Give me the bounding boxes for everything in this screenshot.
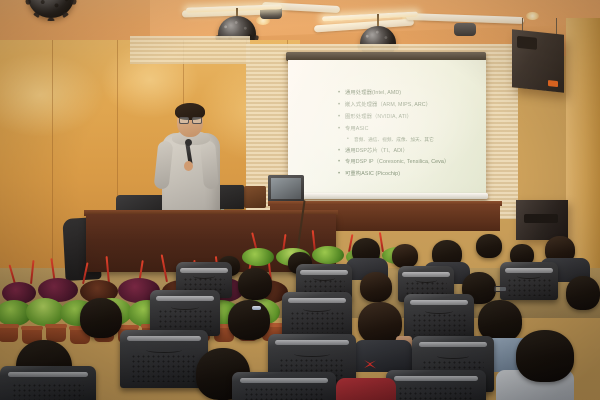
audience-head <box>238 268 272 300</box>
plant-foliage-green <box>242 248 274 266</box>
ceiling-fan <box>314 10 524 36</box>
wall-wood-right <box>566 18 600 270</box>
seat-rail <box>505 268 554 273</box>
seat-handle-slot <box>437 353 470 359</box>
slide-bullet: 图形处理器（NVIDIA, ATI） <box>338 115 480 121</box>
flower-spike <box>161 254 168 282</box>
seat-perforation <box>412 313 465 335</box>
auditorium-seat[interactable] <box>404 294 474 340</box>
audience-head <box>80 298 122 338</box>
pendant-ball <box>28 0 74 18</box>
plant-foliage-green <box>312 246 344 264</box>
pendant-ball-texture <box>25 0 77 21</box>
audience-head <box>516 330 574 382</box>
seat-perforation <box>290 311 343 333</box>
slide-bullet: 嵌入式处理器（ARM, MIPS, ARC） <box>338 103 480 109</box>
seat-rail <box>419 342 488 347</box>
seat-rail <box>8 372 89 377</box>
flower-pot <box>0 324 18 342</box>
wall-seam <box>52 40 53 280</box>
seat-perforation <box>158 309 211 331</box>
audience-head <box>360 272 392 302</box>
slide-content: 通用处理器(Intel, AMD) 嵌入式处理器（ARM, MIPS, ARC）… <box>298 91 480 183</box>
eyeglasses-icon <box>179 117 201 122</box>
downlight <box>526 12 539 20</box>
slide-bullet: 通用处理器(Intel, AMD) <box>338 91 480 97</box>
plant-foliage-green <box>26 298 64 326</box>
seat-perforation <box>244 387 323 400</box>
audience-shoulders <box>354 340 412 372</box>
seat-rail <box>275 340 349 345</box>
seat-perforation <box>507 278 551 296</box>
projection-screen: 通用处理器(Intel, AMD) 嵌入式处理器（ARM, MIPS, ARC）… <box>288 60 486 195</box>
flower-spike <box>30 260 34 284</box>
seat-rail <box>127 336 201 341</box>
audience-head <box>392 244 418 268</box>
hair-clip <box>252 306 261 310</box>
slide-bullet: 可重构ASIC (Picochip) <box>338 172 480 178</box>
eyeglasses-icon <box>494 286 507 292</box>
seat-rail <box>156 296 215 301</box>
seat-rail <box>410 300 469 305</box>
fan-hub <box>454 23 476 36</box>
microphone-head <box>185 139 192 146</box>
auditorium-seat[interactable] <box>386 370 486 400</box>
audience-head <box>566 276 600 310</box>
seat-handle-slot <box>146 347 181 353</box>
seat-perforation <box>131 354 198 382</box>
eyeglass-lens <box>179 117 189 124</box>
speaker-grill <box>524 214 558 223</box>
speaker-brand-logo <box>548 80 558 87</box>
auditorium-seat[interactable] <box>500 262 558 300</box>
auditorium-seat[interactable] <box>0 366 96 400</box>
audience-head <box>476 234 502 258</box>
eyeglass-lens <box>192 117 202 124</box>
audience-shoulders <box>336 378 396 400</box>
seat-rail <box>394 376 478 381</box>
auditorium-seat[interactable] <box>232 372 336 400</box>
monitor-screen <box>271 178 301 199</box>
seat-rail <box>240 378 327 383</box>
seat-perforation <box>12 383 85 400</box>
lecture-hall-photo: 通用处理器(Intel, AMD) 嵌入式处理器（ARM, MIPS, ARC）… <box>0 0 600 400</box>
presenter-hand <box>184 161 193 171</box>
hanging-speaker <box>512 29 564 92</box>
auditorium-seat[interactable] <box>282 292 352 338</box>
audience-head <box>228 300 270 340</box>
auditorium-seat[interactable] <box>120 330 208 388</box>
slide-bullet: 专用DSP IP（Coresonic, Tensilica, Ceva） <box>338 160 480 166</box>
slide-bullet: 专用ASIC <box>338 127 480 133</box>
pendant-lamp <box>24 0 78 32</box>
presenter <box>158 103 224 218</box>
seat-handle-slot <box>294 351 329 357</box>
stage-chair <box>244 186 266 208</box>
seat-rail <box>288 298 347 303</box>
wall-acoustic-panel <box>130 36 250 64</box>
slide-sub-bullet: 音频、通信、视频、成像、加天、其它 <box>338 138 480 143</box>
projection-screen-bottom-bar <box>286 193 488 199</box>
slide-bullet: 通用DSP芯片（TI、ADI） <box>338 149 480 155</box>
speaker-grill <box>517 36 537 50</box>
seat-perforation <box>398 386 474 400</box>
